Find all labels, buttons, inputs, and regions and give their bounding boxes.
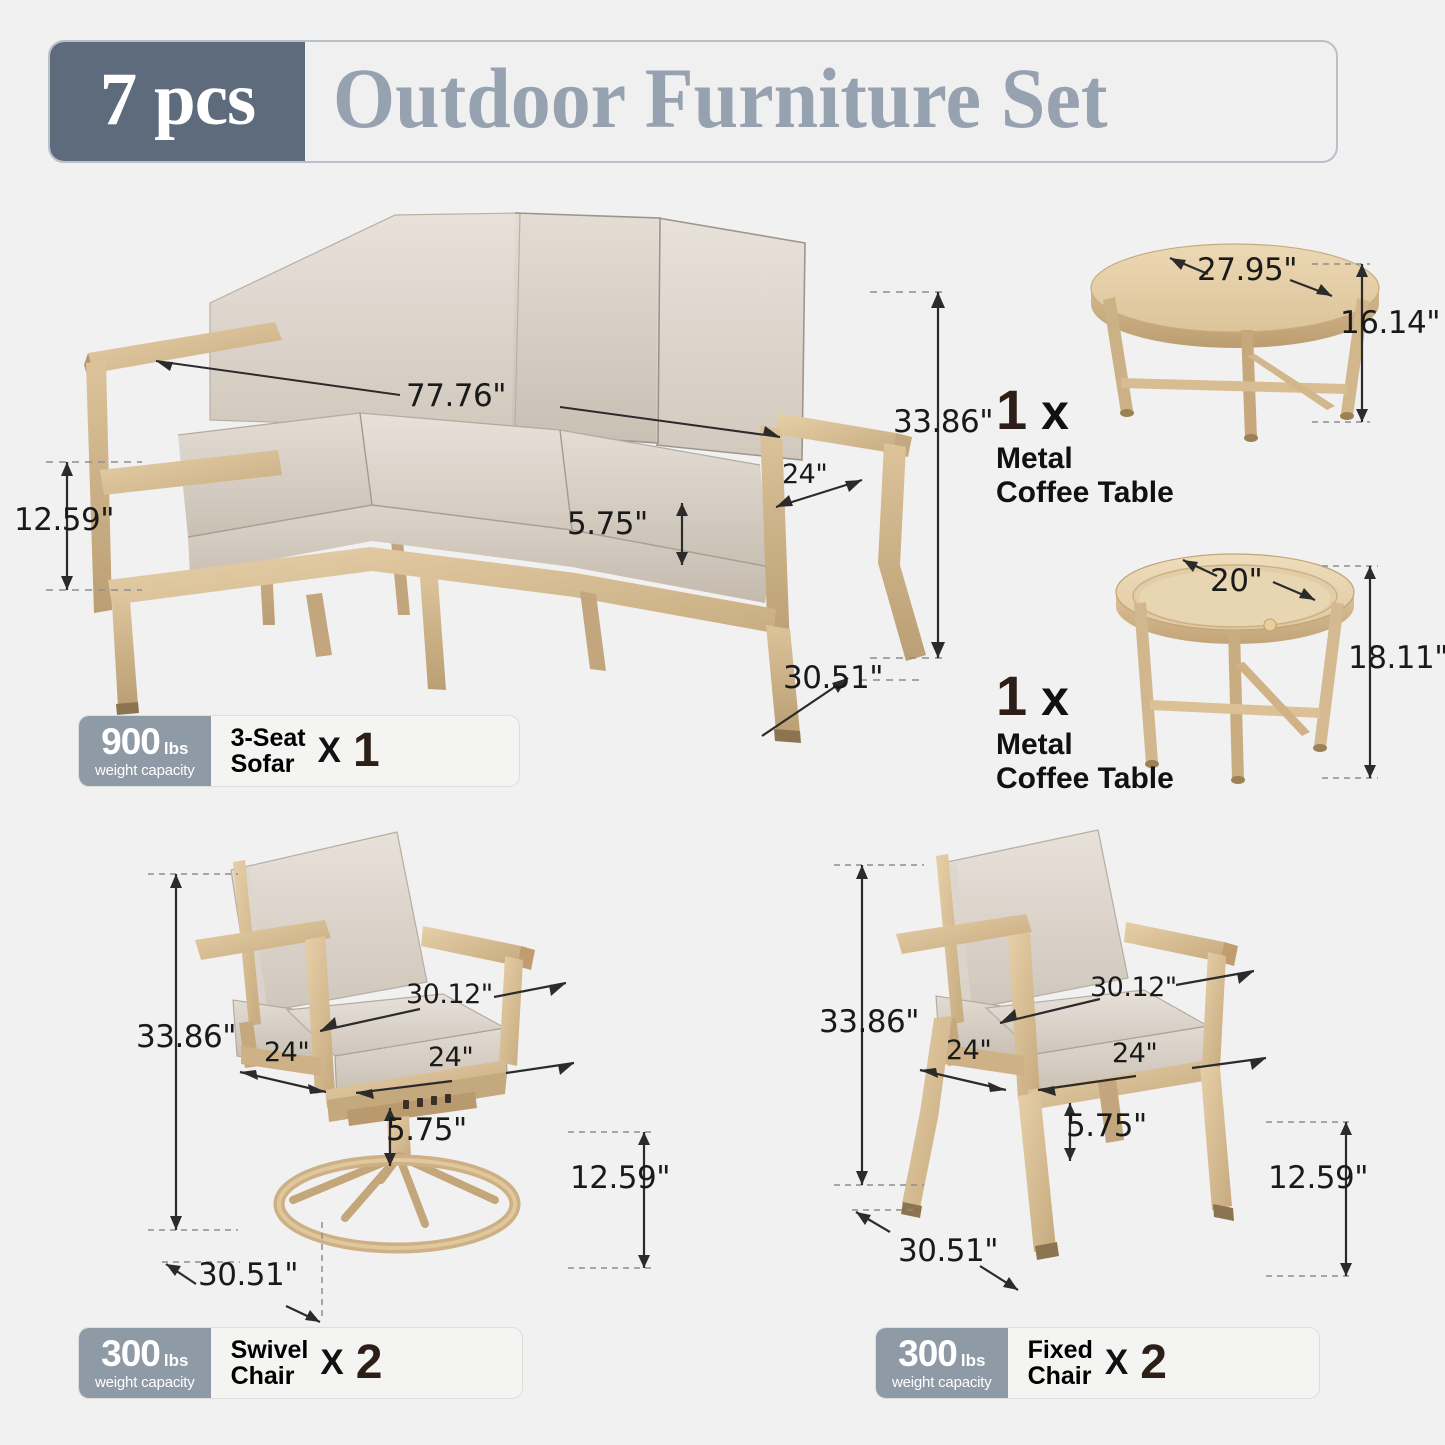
fixed-seat-width-label: 24" [1112,1038,1157,1069]
coffee-table-quantity: 1 x Metal Coffee Table [996,382,1174,509]
infographic-canvas: 7 pcs Outdoor Furniture Set [0,0,1445,1445]
sofa-cushion-thickness-dimension [660,495,720,575]
coffee-table-height-dimension [1310,240,1430,450]
sofa-cushion-thickness-label: 5.75" [567,506,648,542]
sofa-item-name: 3-Seat Sofar [231,725,306,777]
fixed-capacity-caption: weight capacity [892,1374,992,1391]
sofa-width-label: 77.76" [406,378,506,414]
swivel-cushion-label: 5.75" [386,1112,467,1148]
fixed-seat-height-dimension [1258,1108,1398,1298]
fixed-depth-label: 30.51" [898,1233,998,1269]
sofa-depth-label: 30.51" [783,660,883,696]
sofa-weight-capacity: 900 lbs weight capacity [79,716,211,786]
side-table-quantity: 1 x Metal Coffee Table [996,668,1174,795]
swivel-capacity-caption: weight capacity [95,1374,195,1391]
fixed-height-label: 33.86" [819,1004,919,1040]
sofa-multiplier: X [318,731,341,771]
coffee-table-name: Metal Coffee Table [996,442,1174,509]
swivel-seat-height-label: 12.59" [570,1160,670,1196]
fixed-seat-height-label: 12.59" [1268,1160,1368,1196]
swivel-multiplier: X [320,1343,343,1383]
coffee-table-height-label: 16.14" [1340,305,1440,341]
swivel-height-label: 33.86" [136,1019,236,1055]
swivel-seat-depth-label: 24" [264,1037,309,1068]
sofa-capacity-badge: 900 lbs weight capacity 3-Seat Sofar X 1 [78,715,520,787]
fixed-seat-depth-label: 24" [946,1035,991,1066]
swivel-item-name: Swivel Chair [231,1337,309,1389]
fixed-item-summary: Fixed Chair X 2 [1008,1328,1319,1398]
fixed-width-label: 30.12" [1090,972,1177,1003]
coffee-table-count: 1 [996,382,1027,438]
header-title: Outdoor Furniture Set [305,42,1264,161]
side-table-name: Metal Coffee Table [996,728,1174,795]
swivel-seat-width-label: 24" [428,1042,473,1073]
piece-count-label: 7 pcs [100,62,255,137]
coffee-table-diameter-label: 27.95" [1197,252,1297,288]
header-banner: 7 pcs Outdoor Furniture Set [48,40,1338,163]
swivel-capacity-unit: lbs [164,1352,189,1369]
sofa-count: 1 [353,727,380,775]
swivel-depth-label: 30.51" [198,1257,298,1293]
side-table-count: 1 [996,668,1027,724]
fixed-capacity-unit: lbs [961,1352,986,1369]
sofa-height-label: 33.86" [893,404,993,440]
piece-count-badge: 7 pcs [50,42,305,161]
sofa-capacity-unit: lbs [164,740,189,757]
swivel-seat-height-dimension [560,1118,700,1288]
swivel-width-label: 30.12" [406,979,493,1010]
fixed-chair-capacity-badge: 300 lbs weight capacity Fixed Chair X 2 [875,1327,1320,1399]
sofa-capacity-caption: weight capacity [95,762,195,779]
sofa-seat-height-label: 12.59" [14,502,114,538]
sofa-item-summary: 3-Seat Sofar X 1 [211,716,519,786]
sofa-capacity-value: 900 [101,723,160,760]
fixed-count: 2 [1140,1339,1167,1387]
swivel-chair-capacity-badge: 300 lbs weight capacity Swivel Chair X 2 [78,1327,523,1399]
side-table-diameter-label: 20" [1210,563,1262,599]
swivel-count: 2 [356,1339,383,1387]
fixed-item-name: Fixed Chair [1028,1337,1093,1389]
side-table-multiplier: x [1041,673,1069,723]
side-table-height-label: 18.11" [1348,640,1445,676]
sofa-seat-depth-label: 24" [782,459,827,490]
swivel-item-summary: Swivel Chair X 2 [211,1328,522,1398]
swivel-weight-capacity: 300 lbs weight capacity [79,1328,211,1398]
fixed-capacity-value: 300 [898,1335,957,1372]
fixed-weight-capacity: 300 lbs weight capacity [876,1328,1008,1398]
swivel-capacity-value: 300 [101,1335,160,1372]
fixed-multiplier: X [1105,1343,1128,1383]
fixed-cushion-label: 5.75" [1066,1108,1147,1144]
coffee-table-multiplier: x [1041,387,1069,437]
